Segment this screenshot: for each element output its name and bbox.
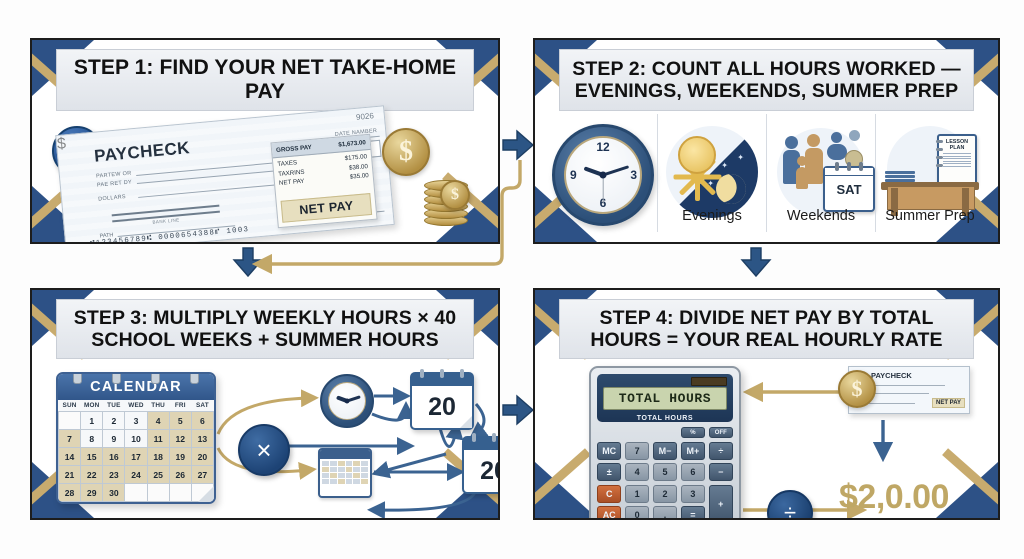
calc-key-2[interactable]: 2 (653, 485, 677, 503)
net-pay-badge: NET PAY (281, 193, 373, 223)
calendar-cell[interactable]: 6 (191, 412, 213, 430)
step-2-heading-band: STEP 2: COUNT ALL HOURS WORKED — EVENING… (559, 49, 974, 111)
calendar-week-row: 28 29 30 (59, 484, 214, 502)
step-4-heading: STEP 4: DIVIDE NET PAY BY TOTAL HOURS = … (566, 307, 967, 351)
calendar-cell[interactable]: 28 (59, 484, 81, 502)
calc-key-equals[interactable]: = (681, 506, 705, 520)
sun-moon-icon: ✦ ✦ ✦ (666, 126, 758, 218)
gold-coin-small-icon: $ (440, 180, 470, 210)
calendar-cell[interactable]: 25 (147, 466, 169, 484)
calc-key-6[interactable]: 6 (681, 463, 705, 481)
calendar-week-row: 21 22 23 24 25 26 27 (59, 466, 214, 484)
desk-lesson-plan-icon: LESSON PLAN (877, 124, 983, 216)
calc-key-plusminus[interactable]: ± (597, 463, 621, 481)
mini-paycheck-badge: NET PAY (932, 398, 965, 408)
calendar-day-header: SUN (59, 400, 81, 412)
calc-key-off[interactable]: OFF (709, 427, 733, 438)
calendar-week-row: 1 2 3 4 5 6 (59, 412, 214, 430)
calendar-cell[interactable]: 14 (59, 448, 81, 466)
calendar-cell[interactable]: 22 (81, 466, 103, 484)
calendar-day-header: FRI (169, 400, 191, 412)
calendar-cell[interactable]: 5 (169, 412, 191, 430)
pay-stub: GROSS PAY $1,673.00 TAXES $175.00 TAXRIN… (270, 134, 377, 228)
calendar-day-header: MON (81, 400, 103, 412)
stub-row-value: $38.00 (349, 163, 368, 172)
check-dollars-label: DOLLARS (98, 194, 126, 202)
calendar-cell (147, 484, 169, 502)
hours-item-clock: 12 3 6 9 (549, 114, 657, 232)
hours-item-evenings: ✦ ✦ ✦ Evenings (657, 114, 766, 232)
calc-key-decimal[interactable]: . (653, 506, 677, 520)
step-4-panel: STEP 4: DIVIDE NET PAY BY TOTAL HOURS = … (533, 288, 1000, 520)
arrow-step3-to-step4 (503, 396, 533, 424)
calc-key-percent[interactable]: % (681, 427, 705, 438)
clock-number: 12 (596, 140, 609, 154)
hours-item-summer-prep: LESSON PLAN Summer Prep (875, 114, 984, 232)
calculator-display: TOTAL HOURS (603, 387, 727, 410)
stub-row-label: NET PAY (279, 178, 305, 187)
result-calendar-20: 20 (410, 372, 474, 430)
calc-key-ac[interactable]: AC (597, 506, 621, 520)
step-1-body: $ 9026 PAYCHECK DATE NAMBER PARTEW OR PA… (42, 114, 488, 232)
step-2-panel: STEP 2: COUNT ALL HOURS WORKED — EVENING… (533, 38, 1000, 244)
calendar-cell[interactable]: 10 (125, 430, 147, 448)
calc-key-7[interactable]: 7 (625, 442, 649, 460)
calendar-cell[interactable]: 29 (81, 484, 103, 502)
calc-key-minus[interactable]: − (709, 463, 733, 481)
step-4-body: TOTAL HOURS TOTAL HOURS % OFF MC 7 M− M+… (545, 362, 988, 508)
mini-paycheck-title: PAYCHECK (871, 371, 912, 380)
calendar-cell[interactable]: 9 (103, 430, 125, 448)
check-number: 9026 (356, 111, 375, 122)
calendar-cell (169, 484, 191, 502)
clock-number: 9 (570, 168, 577, 182)
calc-key-0[interactable]: 0 (625, 506, 649, 520)
hours-item-weekends: SAT Weekends (766, 114, 875, 232)
calendar-cell[interactable]: 30 (103, 484, 125, 502)
calendar-cell[interactable]: 21 (59, 466, 81, 484)
calendar-cell[interactable]: 27 (191, 466, 213, 484)
lesson-plan-note: LESSON PLAN (937, 134, 977, 186)
clock-number: 3 (630, 168, 637, 182)
mini-calendar-icon (318, 448, 372, 498)
calculator-display-area: TOTAL HOURS TOTAL HOURS (597, 374, 733, 422)
hours-item-caption: Weekends (787, 208, 855, 224)
calc-key-5[interactable]: 5 (653, 463, 677, 481)
calendar-header-row: SUN MON TUE WED THU FRI SAT (59, 400, 214, 412)
check-micr-line: ⑆123456789⑆ 0000654388⑈ 1003 (90, 225, 250, 244)
lesson-plan-label: LESSON PLAN (939, 139, 975, 151)
step-1-panel: STEP 1: FIND YOUR NET TAKE-HOME PAY $ 90… (30, 38, 500, 244)
stub-gross-value: $1,673.00 (338, 139, 366, 148)
result-calendar-20: 20 (462, 436, 500, 494)
infographic-canvas: STEP 1: FIND YOUR NET TAKE-HOME PAY $ 90… (0, 0, 1024, 559)
calendar-day-header: TUE (103, 400, 125, 412)
stub-row-value: $35.00 (350, 172, 369, 181)
calendar-cell[interactable]: 11 (147, 430, 169, 448)
calendar-cell[interactable] (59, 412, 81, 430)
step-3-heading: STEP 3: MULTIPLY WEEKLY HOURS × 40 SCHOO… (63, 307, 467, 351)
calendar-cell[interactable]: 7 (59, 430, 81, 448)
stub-rows: TAXES $175.00 TAXRINS $38.00 NET PAY $35… (277, 153, 369, 190)
calculator[interactable]: TOTAL HOURS TOTAL HOURS % OFF MC 7 M− M+… (589, 366, 741, 520)
step-2-heading: STEP 2: COUNT ALL HOURS WORKED — EVENING… (566, 58, 967, 102)
calendar-cell[interactable]: 2 (103, 412, 125, 430)
calc-key-1[interactable]: 1 (625, 485, 649, 503)
calendar-cell[interactable]: 1 (81, 412, 103, 430)
saturday-label: SAT (836, 182, 861, 197)
calc-key-divide[interactable]: ÷ (709, 442, 733, 460)
hours-item-caption: Summer Prep (885, 208, 974, 224)
calendar-cell (125, 484, 147, 502)
calendar-week-row: 14 15 16 17 18 19 20 (59, 448, 214, 466)
rate-label-line1: YOUR REAL (806, 519, 982, 520)
stub-row-label: TAXRINS (278, 168, 305, 177)
check-bank-label: BANK LINE (152, 217, 179, 224)
check-title: PAYCHECK (93, 138, 190, 167)
calendar-day-header: WED (125, 400, 147, 412)
calendar-cell[interactable]: 20 (191, 448, 213, 466)
check-payto-lines: PARTEW OR PAE RET DY (96, 169, 133, 190)
arrow-step2-to-step4 (742, 248, 770, 276)
calendar-cell[interactable]: 19 (169, 448, 191, 466)
multiply-symbol-icon: × (238, 424, 290, 476)
gold-coin-icon: $ (382, 128, 430, 176)
calendar-cell[interactable]: 13 (191, 430, 213, 448)
step-3-panel: STEP 3: MULTIPLY WEEKLY HOURS × 40 SCHOO… (30, 288, 500, 520)
mini-clock-icon (320, 374, 374, 428)
calendar-binder-icon (58, 372, 214, 384)
calendar-cell[interactable]: 16 (103, 448, 125, 466)
calc-key-mplus[interactable]: M+ (681, 442, 705, 460)
calendar-cell[interactable]: 24 (125, 466, 147, 484)
calendar-cell[interactable]: 26 (169, 466, 191, 484)
calendar-cell[interactable]: 4 (147, 412, 169, 430)
calendar-cell[interactable]: 8 (81, 430, 103, 448)
calculator-keypad: % OFF MC 7 M− M+ ÷ ± 4 5 6 − C 1 2 3 (597, 427, 733, 520)
arrow-step1-to-step3 (234, 248, 262, 276)
calendar-cell[interactable]: 18 (147, 448, 169, 466)
calc-key-plus[interactable]: + (709, 485, 733, 521)
calendar-cell[interactable]: 12 (169, 430, 191, 448)
calendar-cell[interactable]: 3 (125, 412, 147, 430)
rate-label: YOUR REAL HOURLY RATE (806, 519, 982, 520)
calc-key-mc[interactable]: MC (597, 442, 621, 460)
calc-key-mminus[interactable]: M− (653, 442, 677, 460)
calendar-day-header: THU (147, 400, 169, 412)
stub-row-value: $175.00 (344, 153, 367, 162)
calendar-day-header: SAT (191, 400, 213, 412)
solar-cell-icon (691, 377, 727, 386)
step-3-heading-band: STEP 3: MULTIPLY WEEKLY HOURS × 40 SCHOO… (56, 299, 474, 359)
calc-key-4[interactable]: 4 (625, 463, 649, 481)
step-3-body: CALENDAR SUN MON TUE WED THU FRI SAT 1 (42, 362, 488, 508)
gold-coin-icon: $ (838, 370, 876, 408)
hours-item-caption: Evenings (682, 208, 742, 224)
stub-row-label: TAXES (277, 159, 297, 168)
calculator-display-caption: TOTAL HOURS (597, 415, 733, 422)
stub-gross-label: GROSS PAY (276, 143, 312, 153)
calendar-cell[interactable]: 23 (103, 466, 125, 484)
clock-icon: 12 3 6 9 (552, 124, 654, 226)
result-calendar-value: 20 (428, 393, 456, 422)
saturday-badge: SAT (823, 166, 875, 212)
calc-key-c[interactable]: C (597, 485, 621, 503)
step-1-heading: STEP 1: FIND YOUR NET TAKE-HOME PAY (63, 56, 467, 103)
calendar-cell[interactable]: 15 (81, 448, 103, 466)
arrow-step1-to-step2 (503, 131, 533, 159)
step-1-heading-band: STEP 1: FIND YOUR NET TAKE-HOME PAY (56, 49, 474, 111)
family-calendar-icon: SAT (769, 126, 873, 218)
calendar-cell[interactable]: 17 (125, 448, 147, 466)
rate-amount: $2,0.00 (806, 480, 982, 514)
calendar-week-row: 7 8 9 10 11 12 13 (59, 430, 214, 448)
result-calendar-value: 20 (480, 457, 500, 486)
calc-key-3[interactable]: 3 (681, 485, 705, 503)
step-2-body: 12 3 6 9 (545, 114, 988, 232)
calendar-grid: SUN MON TUE WED THU FRI SAT 1 2 3 4 (58, 400, 214, 502)
step-4-heading-band: STEP 4: DIVIDE NET PAY BY TOTAL HOURS = … (559, 299, 974, 359)
real-hourly-rate-result: $2,0.00 YOUR REAL HOURLY RATE (806, 480, 982, 520)
calendar-widget: CALENDAR SUN MON TUE WED THU FRI SAT 1 (56, 372, 216, 504)
